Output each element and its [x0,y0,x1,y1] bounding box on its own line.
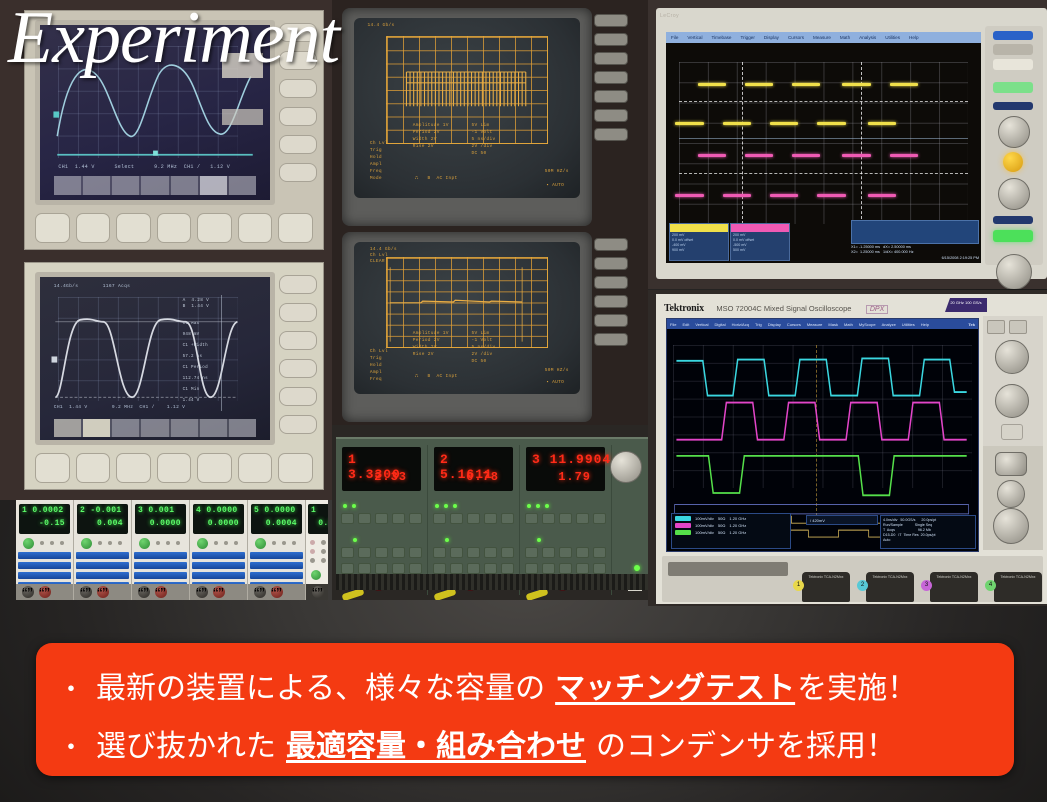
menu-item-vertical[interactable]: Vertical [687,35,702,40]
psu-key[interactable] [525,563,538,574]
lecroy-trace-ch1 [817,122,845,125]
psu-led-indicator [445,538,449,542]
psu-key[interactable] [542,547,555,558]
psu-key[interactable] [358,547,371,558]
load-button[interactable] [224,541,228,545]
measurement-v2-ch3: 1.20 GHz [729,530,746,535]
psu-control-panel [612,445,648,595]
psu-key[interactable] [501,563,514,574]
bottom-button[interactable] [76,453,111,483]
load-knob-red[interactable] [213,586,225,598]
bottom-button[interactable] [278,453,313,483]
load-led-window: 1 0.00 [308,504,328,534]
psu-key[interactable] [433,547,446,558]
load-buttons[interactable] [98,541,122,545]
crt2-top-label: 14.4 Gb/s Ch Lvl CLEAR [370,247,397,265]
measurement-label-ch2: 100mV/div [695,523,714,528]
scope-softkey-row[interactable] [54,419,256,437]
psu-status-led [634,565,640,571]
bottom-button[interactable] [278,213,313,243]
load-knob-red[interactable] [271,586,283,598]
tektronix-button-run-stop[interactable] [995,452,1027,476]
bottom-button[interactable] [35,213,70,243]
psu-key[interactable] [467,513,480,524]
caption-line-1: ・ 最新の装置による、様々な容量の マッチングテスト を実施！ [58,663,917,707]
scope-bottom-buttons-bottom[interactable] [35,453,313,483]
lecroy-white-button[interactable] [993,59,1033,70]
tektronix-measurement-panel: 100mV/div 50Ω 1.20 GHz 100mV/div 50Ω 1.2… [671,513,791,549]
load-knob-red[interactable] [39,586,51,598]
load-knob-small[interactable] [80,586,92,598]
load-bottom-knobs[interactable] [190,584,247,600]
measurement-row-ch2: 100mV/div 50Ω 1.20 GHz [672,521,790,528]
psu-led-indicator [453,504,457,508]
probe-label-3: Tektronix TCA-N2Mxx [937,575,972,579]
psu-key[interactable] [450,547,463,558]
psu-channel-2: 2 5.1611 0.78 [428,445,520,595]
psu-led-window: 1 3.3300 2.33 [342,447,421,491]
menu-item-analysis[interactable]: Analysis [859,35,876,40]
measurement-v1-ch3: 50Ω [718,530,725,535]
probe-channel-4[interactable]: 4 Tektronix TCA-N2Mxx [994,572,1042,602]
bezel-button[interactable] [279,331,317,350]
psu-key[interactable] [375,547,388,558]
scope-bezel: 14.4Gb/s 1167 Acqs A 4.28 V B 1.44 V C1 … [35,272,275,445]
psu-key[interactable] [525,513,538,524]
load-knob[interactable] [255,538,266,549]
page-title: Experiment [8,0,339,81]
bezel-button[interactable] [279,359,317,378]
psu-channel-3: 3 11.9904 1.79 [520,445,612,595]
psu-led-indicator [545,504,549,508]
lecroy-green-button[interactable] [993,82,1033,93]
tektronix-screen: File Edit Vertical Digital Horiz/Acq Tri… [666,318,979,552]
photo-tektronix-oscilloscope: Tektronix MSO 72004C Mixed Signal Oscill… [648,290,1047,606]
load-readout-a-1: 1 0.0002 [22,506,64,515]
bottom-button[interactable] [35,453,70,483]
measurement-label-ch1: 100mV/div [695,516,714,521]
tektronix-front-slot [668,562,788,576]
psu-key[interactable] [409,513,422,524]
psu-key[interactable] [392,563,405,574]
lecroy-cursor-x2[interactable] [861,62,862,224]
lecroy-trace-ch2 [890,154,918,157]
probe-number-2: 2 [857,580,868,591]
psu-rotary-knob[interactable] [610,451,642,483]
menu-item-measure[interactable]: Measure [813,35,831,40]
lecroy-section-label [993,102,1033,110]
lecroy-trace-ch2 [842,154,870,157]
measurement-v1-ch2: 50Ω [718,523,725,528]
crt-button[interactable] [594,71,628,84]
load-button[interactable] [166,541,170,545]
load-buttons[interactable] [40,541,64,545]
load-knob[interactable] [81,538,92,549]
load-knob[interactable] [197,538,208,549]
bottom-button[interactable] [76,213,111,243]
lecroy-gray-button[interactable] [993,44,1033,55]
lecroy-control-panel [985,26,1043,265]
psu-key[interactable] [392,513,405,524]
psu-key[interactable] [433,563,446,574]
tektronix-front-panel: Tektronix MSO 72004C Mixed Signal Oscill… [656,294,1047,604]
bottom-button[interactable] [157,453,192,483]
tektronix-button-autoset[interactable] [987,320,1005,334]
psu-key[interactable] [341,563,354,574]
psu-key[interactable] [409,547,422,558]
bottom-button[interactable] [238,453,273,483]
psu-key[interactable] [542,513,555,524]
crt-button[interactable] [594,52,628,65]
load-knob[interactable] [23,538,34,549]
lecroy-cursor-ch1-ref[interactable] [679,101,969,102]
psu-key[interactable] [392,547,405,558]
psu-key[interactable] [593,513,606,524]
bezel-button[interactable] [279,275,317,294]
load-controller-unit: 1 0.00 [306,500,328,600]
psu-key[interactable] [484,547,497,558]
probe-channel-2[interactable]: 2 Tektronix TCA-N2Mxx [866,572,914,602]
load-power-knob[interactable] [311,570,321,580]
load-led-window: 1 0.0002 -0.15 [19,504,70,534]
scope-readout-bottom: CH1 1.44 V 9.2 MHz CH1 / 1.12 V [54,405,185,411]
lecroy-knob-vertical[interactable] [998,116,1030,148]
lecroy-trace-ch1 [770,122,798,125]
psu-key[interactable] [484,513,497,524]
lecroy-trace-ch2 [817,194,845,197]
psu-key[interactable] [501,513,514,524]
badge-text-ch2: 200 mV 0.0 mV offset -500 mV 500 mV [731,232,789,254]
lecroy-cursor-x1[interactable] [742,62,743,224]
psu-key[interactable] [559,513,572,524]
bezel-button[interactable] [279,135,317,154]
crt-measure-right: 5V Lim -1 Volt 5 ns/div 2V /div DC 50 [472,122,496,157]
menu-item-utilities[interactable]: Utilities [885,35,900,40]
photo-electronic-load: 1 0.0002 -0.15 2 -0.001 0.004 3 0.001 0.… [16,500,328,600]
psu-current-1: 2.33 [374,470,407,484]
photo-center-amber-crts: 14.4 Gb/s Amplitude 1V Period 2V Width 2… [332,0,648,425]
bottom-button[interactable] [197,453,232,483]
crt-button[interactable] [594,238,628,251]
lecroy-screen: File Vertical Timebase Trigger Display C… [666,32,981,263]
lecroy-trigger-box [851,220,979,244]
load-readout-a-6: 1 [311,506,316,515]
menu-item-file[interactable]: File [671,35,678,40]
psu-keypad-3[interactable] [525,495,606,567]
psu-current-2: 0.78 [466,470,499,484]
probe-number-3: 3 [921,580,932,591]
psu-key[interactable] [409,563,422,574]
load-module-slots [192,552,245,584]
load-ctrl-bottom[interactable] [306,584,328,600]
load-module-slots [18,552,71,584]
psu-channel-1: 1 3.3300 2.33 [336,445,428,595]
load-buttons[interactable] [214,541,238,545]
psu-key[interactable] [525,547,538,558]
menu-item-math[interactable]: Math [840,35,850,40]
psu-key[interactable] [450,513,463,524]
caption-line-2-emphasis: 最適容量・組み合わせ [284,721,588,765]
lecroy-trace-ch1 [842,83,870,86]
scope-side-menu[interactable] [221,295,266,411]
load-knob-small[interactable] [312,586,324,598]
measurement-v1-ch1: 50Ω [718,516,725,521]
crt-top-label: 14.4 Gb/s [368,23,395,29]
crt-buttons-top[interactable] [594,14,628,147]
load-button[interactable] [176,541,180,545]
crt2-footer-wave: ⎍ B AC Inpt [415,374,457,380]
crt-button[interactable] [594,128,628,141]
crt-button[interactable] [594,14,628,27]
psu-key[interactable] [559,547,572,558]
load-led-window: 2 -0.001 0.004 [77,504,128,534]
lecroy-info-panel: X1= -1.25000 ms dX= 2.50000 ms X2= 1.250… [851,220,979,261]
load-channel-2: 2 -0.001 0.004 [74,500,132,600]
tektronix-model-label: MSO 72004C Mixed Signal Oscilloscope [716,304,851,313]
load-bottom-knobs[interactable] [74,584,131,600]
psu-key[interactable] [341,513,354,524]
load-knob-small[interactable] [138,586,150,598]
probe-label-4: Tektronix TCA-N2Mxx [1001,575,1036,579]
bezel-button[interactable] [279,107,317,126]
caption-line-2: ・ 選び抜かれた 最適容量・組み合わせ のコンデンサを採用！ [58,721,896,765]
load-button[interactable] [60,541,64,545]
crt-side-labels: Ch Lvl Trig Hold Ampl Freq Mode [370,140,388,182]
load-bottom-knobs[interactable] [248,584,305,600]
psu-key[interactable] [484,563,497,574]
psu-key[interactable] [576,563,589,574]
load-keypad[interactable] [310,540,328,563]
psu-keypad-1[interactable] [341,495,422,567]
load-module-slots [76,552,129,584]
load-knob-small[interactable] [22,586,34,598]
measurement-color-ch1 [675,516,691,521]
bottom-button[interactable] [116,453,151,483]
bezel-button[interactable] [279,79,317,98]
load-readout-b-2: 0.004 [97,519,123,528]
psu-key[interactable] [542,563,555,574]
load-readout-b-4: 0.0000 [208,519,239,528]
load-buttons[interactable] [156,541,180,545]
lecroy-trace-ch2 [723,194,751,197]
psu-key[interactable] [358,513,371,524]
psu-key[interactable] [450,563,463,574]
lecroy-channel-badge-1[interactable]: 200 mV 0.0 mV offset -400 mV 900 mV [669,223,729,261]
bottom-button[interactable] [116,213,151,243]
tektronix-knob-multipurpose-b[interactable] [993,508,1029,544]
load-button[interactable] [118,541,122,545]
slide-root: CH1 1.44 V Select 9.2 MHz CH1 / 1.12 V [0,0,1047,802]
psu-keypad-2[interactable] [433,495,514,567]
psu-key[interactable] [501,547,514,558]
menu-item-display[interactable]: Display [764,35,779,40]
crt2-footer-mode: ▪ AUTO [546,380,564,386]
psu-key[interactable] [467,563,480,574]
psu-key[interactable] [467,547,480,558]
load-button[interactable] [98,541,102,545]
crt-screen-top: 14.4 Gb/s Amplitude 1V Period 2V Width 2… [354,18,580,198]
crt-monitor-bottom: 14.4 Gb/s Ch Lvl CLEAR Amplitude 1V Peri… [342,232,592,422]
crt-button[interactable] [594,33,628,46]
badge-color-bar-ch2 [731,224,789,232]
load-knob-red[interactable] [155,586,167,598]
load-button[interactable] [234,541,238,545]
psu-key[interactable] [576,513,589,524]
tektronix-button-set-to-zero[interactable] [1001,424,1023,440]
bezel-button[interactable] [279,163,317,182]
caption-box: ・ 最新の装置による、様々な容量の マッチングテスト を実施！ ・ 選び抜かれた… [36,643,1014,776]
lecroy-trace-ch2 [868,194,896,197]
load-button[interactable] [40,541,44,545]
lecroy-menubar[interactable]: File Vertical Timebase Trigger Display C… [666,32,981,43]
crt2-measure-right: 5V Lim -1 Volt 5 ns/div 2V /div DC 50 [472,330,496,365]
tektronix-knob-horizontal-scale[interactable] [995,384,1029,418]
psu-key[interactable] [576,547,589,558]
caption-line-1-emphasis: マッチングテスト [553,663,797,707]
load-knob-small[interactable] [254,586,266,598]
lecroy-amber-button[interactable] [1003,152,1023,172]
lecroy-trace-ch2 [698,154,726,157]
load-knob-small[interactable] [196,586,208,598]
crt-button[interactable] [594,276,628,289]
menu-item-timebase[interactable]: Timebase [711,35,731,40]
tektronix-run-section [983,446,1043,550]
lecroy-trace-ch2 [770,194,798,197]
badge-color-bar-ch1 [670,224,728,232]
menu-item-cursors[interactable]: Cursors [788,35,804,40]
tektronix-knob-multipurpose-a[interactable] [997,480,1025,508]
probe-number-1: 1 [793,580,804,591]
psu-key[interactable] [358,563,371,574]
menu-item-help[interactable]: Help [909,35,918,40]
scope-cursor-values: A 4.28 V B 1.44 V [183,298,209,310]
load-readout-b-1: -0.15 [39,519,65,528]
bottom-button[interactable] [238,213,273,243]
crt-button[interactable] [594,257,628,270]
psu-voltage-3: 3 11.9904 [532,452,611,467]
lecroy-knob-adjust[interactable] [996,254,1032,289]
bezel-button[interactable] [279,387,317,406]
lecroy-trace-ch1 [675,122,703,125]
tektronix-knob-vertical-scale[interactable] [995,340,1029,374]
load-bottom-knobs[interactable] [132,584,189,600]
photo-lecroy-oscilloscope: LeCroy File Vertical Timebase Trigger Di… [648,0,1047,289]
psu-key[interactable] [375,563,388,574]
psu-key[interactable] [593,547,606,558]
psu-key[interactable] [433,513,446,524]
load-button[interactable] [108,541,112,545]
bottom-button[interactable] [157,213,192,243]
tektronix-probe-bay: 1 Tektronix TCA-N2Mxx 2 Tektronix TCA-N2… [662,556,1043,602]
load-button[interactable] [292,541,296,545]
psu-chassis: 1 3.3300 2.33 2 5.1611 [336,437,648,590]
psu-key[interactable] [593,563,606,574]
psu-key[interactable] [559,563,572,574]
lecroy-grid-divider [679,138,969,139]
crt-button[interactable] [594,90,628,103]
lecroy-run-button[interactable] [993,230,1033,242]
caption-bullet-2: ・ [58,727,84,764]
measurement-row-ch1: 100mV/div 50Ω 1.20 GHz [672,514,790,521]
scope-screen-square: 14.4Gb/s 1167 Acqs A 4.28 V B 1.44 V C1 … [40,277,270,440]
caption-line-1-post: を実施！ [797,663,917,707]
load-buttons[interactable] [272,541,296,545]
bottom-button[interactable] [197,213,232,243]
load-readout-a-4: 4 0.0000 [196,506,238,515]
crt-button[interactable] [594,109,628,122]
tektronix-button-default[interactable] [1009,320,1027,334]
load-knob-red[interactable] [97,586,109,598]
badge-text-ch1: 200 mV 0.0 mV offset -400 mV 900 mV [670,232,728,254]
load-button[interactable] [214,541,218,545]
load-bottom-knobs[interactable] [16,584,73,600]
crt-button[interactable] [594,295,628,308]
scope-bottom-buttons-top[interactable] [35,213,313,243]
crt-measure-left: Amplitude 1V Period 2V Width 2V Rise 2V [413,122,449,150]
caption-line-2-post: のコンデンサを採用！ [596,721,896,765]
lecroy-cursor-ch2-ref[interactable] [679,173,969,174]
psu-led-indicator [527,504,531,508]
lecroy-trace-ch1 [698,83,726,86]
load-channel-4: 4 0.0000 0.0000 [190,500,248,600]
load-readout-a-2: 2 -0.001 [80,506,122,515]
load-button[interactable] [50,541,54,545]
psu-key[interactable] [375,513,388,524]
scope-softkey-row[interactable] [54,176,256,195]
measurement-color-ch2 [675,523,691,528]
psu-led-indicator [343,504,347,508]
probe-channel-1[interactable]: 1 Tektronix TCA-N2Mxx [802,572,850,602]
load-channel-3: 3 0.001 0.0000 [132,500,190,600]
crt2-side-labels: Ch Lvl Trig Hold Ampl Freq [370,348,388,383]
psu-led-window: 3 11.9904 1.79 [526,447,605,491]
load-button[interactable] [156,541,160,545]
bezel-button[interactable] [279,415,317,434]
probe-label-1: Tektronix TCA-N2Mxx [809,575,844,579]
load-channel-5: 5 0.0000 0.0004 [248,500,306,600]
lecroy-trace-ch1 [745,83,773,86]
crt-monitor-top: 14.4 Gb/s Amplitude 1V Period 2V Width 2… [342,8,592,226]
scope-measurements: C1 Max 948 mV C1 +Width 57.2 ns C1 Perio… [183,319,208,407]
bezel-button[interactable] [279,303,317,322]
load-led-window: 3 0.001 0.0000 [135,504,186,534]
lecroy-trace-ch1 [792,83,820,86]
lecroy-blue-button[interactable] [993,31,1033,40]
measurement-v2-ch2: 1.20 GHz [729,523,746,528]
crt-button[interactable] [594,314,628,327]
rate-badge: 20 GHz 100 GS/s [945,298,987,312]
lecroy-brand-strip: LeCroy [660,13,679,19]
lecroy-graticule [679,62,969,224]
load-knob[interactable] [139,538,150,549]
crt-button[interactable] [594,333,628,346]
psu-led-indicator [435,504,439,508]
crt-buttons-bottom[interactable] [594,238,628,352]
menu-item-trigger[interactable]: Trigger [740,35,754,40]
scope-bezel-buttons-bottom[interactable] [279,275,317,443]
psu-key[interactable] [341,547,354,558]
lecroy-knob-horizontal[interactable] [998,178,1030,210]
load-led-window: 4 0.0000 0.0000 [193,504,244,534]
crt2-measure-left: Amplitude 1V Period 2V Width 2V Rise 2V [413,330,449,358]
load-readout-b-5: 0.0004 [266,519,297,528]
load-button[interactable] [282,541,286,545]
load-button[interactable] [272,541,276,545]
tektronix-control-panel [983,316,1043,550]
lecroy-channel-badge-2[interactable]: 200 mV 0.0 mV offset -500 mV 500 mV [730,223,790,261]
probe-channel-3[interactable]: 3 Tektronix TCA-N2Mxx [930,572,978,602]
measurement-row-ch3: 100mV/div 50Ω 1.20 GHz [672,528,790,535]
